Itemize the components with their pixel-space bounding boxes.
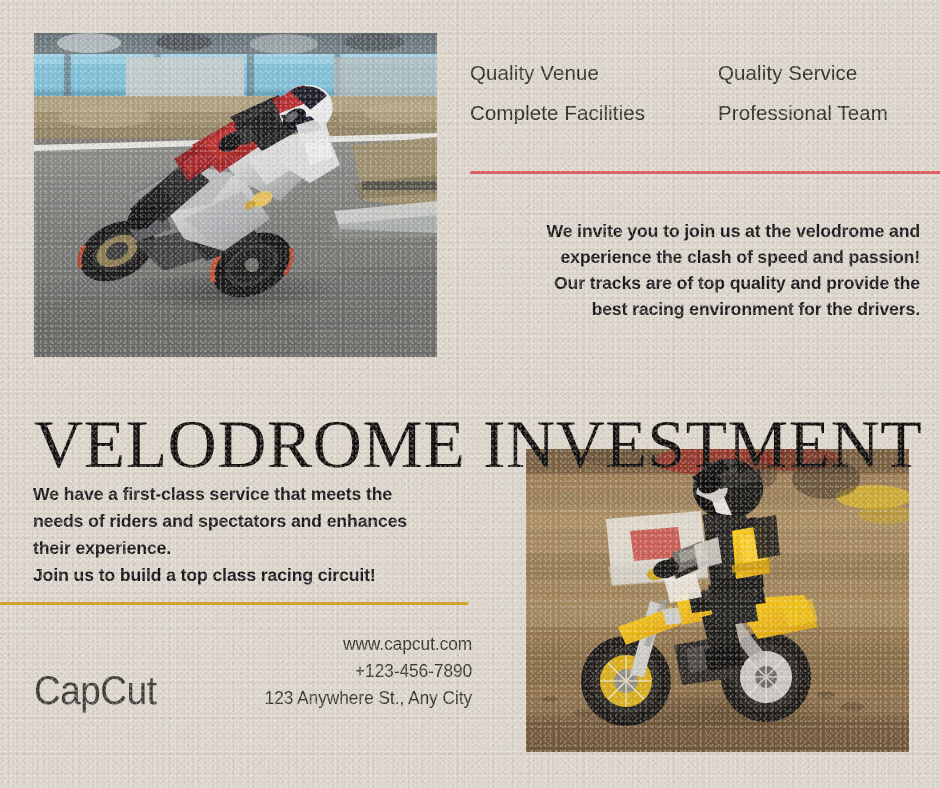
feature-item-professional-team: Professional Team: [718, 102, 920, 126]
service-line-2: needs of riders and spectators and enhan…: [33, 508, 473, 535]
invite-line-1: We invite you to join us at the velodrom…: [462, 218, 920, 244]
feature-item-quality-service: Quality Service: [718, 62, 920, 86]
dirt-bike-racer-photo: [526, 449, 909, 752]
road-racer-illustration: [34, 33, 437, 357]
red-divider-rule: [470, 171, 940, 174]
contact-info: www.capcut.com +123-456-7890 123 Anywher…: [249, 630, 472, 711]
invite-line-3: Our tracks are of top quality and provid…: [462, 270, 920, 296]
service-paragraph: We have a first-class service that meets…: [33, 481, 473, 589]
invite-line-2: experience the clash of speed and passio…: [462, 244, 920, 270]
page-title: VELODROME INVESTMENT: [34, 408, 909, 480]
poster-canvas: Quality Venue Quality Service Complete F…: [0, 0, 940, 788]
feature-list: Quality Venue Quality Service Complete F…: [470, 62, 920, 126]
contact-address: 123 Anywhere St., Any City: [264, 684, 472, 711]
road-racing-motorcycle-photo: [34, 33, 437, 357]
contact-phone[interactable]: +123-456-7890: [264, 657, 472, 684]
brand-logo: CapCut: [34, 669, 157, 714]
service-line-3: their experience.: [33, 535, 473, 562]
contact-website[interactable]: www.capcut.com: [264, 630, 472, 657]
dirt-racer-illustration: [526, 449, 909, 752]
invite-line-4: best racing environment for the drivers.: [462, 296, 920, 322]
invite-paragraph: We invite you to join us at the velodrom…: [462, 218, 920, 322]
service-line-1: We have a first-class service that meets…: [33, 481, 473, 508]
service-line-4: Join us to build a top class racing circ…: [33, 562, 473, 589]
feature-item-complete-facilities: Complete Facilities: [470, 102, 718, 126]
feature-item-quality-venue: Quality Venue: [470, 62, 718, 86]
gold-divider-rule: [0, 602, 468, 605]
